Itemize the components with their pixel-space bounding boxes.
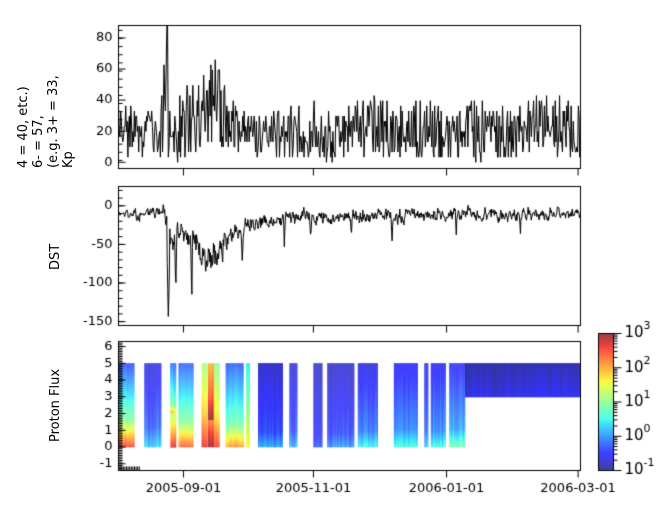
kp-axis-title-line-1: Kp [61,75,76,168]
dst-axis-title: DST [48,244,63,270]
proton-flux-axis-title-label: Proton Flux [48,369,63,442]
kp-axis-title: Kp (e.g. 3+ = 33, 6- = 57, 4 = 40, etc.) [16,75,76,168]
dst-axis-title-label: DST [48,244,63,270]
kp-axis-title-line-3: 6- = 57, [31,75,46,168]
kp-axis-title-line-2: (e.g. 3+ = 33, [46,75,61,168]
proton-flux-axis-title: Proton Flux [48,369,63,442]
kp-axis-title-line-4: 4 = 40, etc.) [16,75,31,168]
plot-canvas [0,0,665,523]
scientific-figure: Kp (e.g. 3+ = 33, 6- = 57, 4 = 40, etc.)… [0,0,665,523]
